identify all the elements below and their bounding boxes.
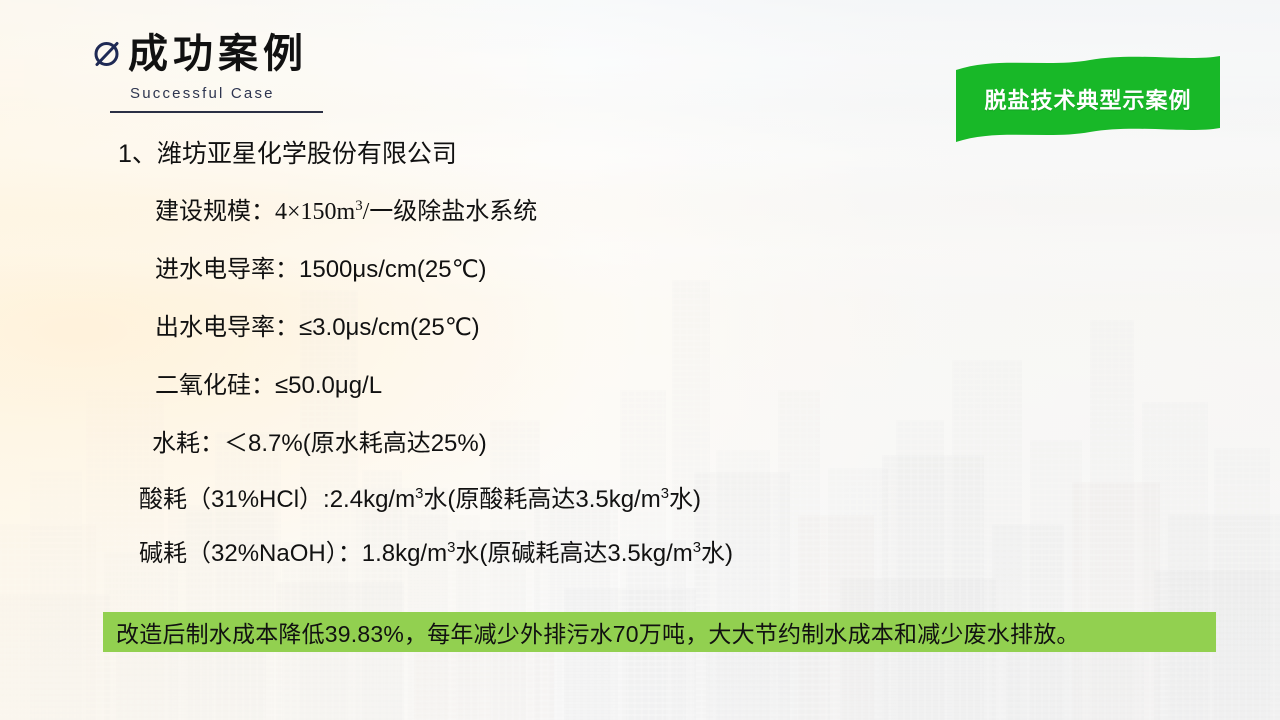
list-item-value: 4×150m3/一级除盐水系统	[275, 199, 537, 225]
highlight-text: 改造后制水成本降低39.83%，每年减少外排污水70万吨，大大节约制水成本和减少…	[103, 615, 1080, 649]
list-item-label: 二氧化硅	[155, 372, 251, 399]
list-item-value: 2.4kg/m3水(原酸耗高达3.5kg/m3水)	[330, 486, 701, 513]
list-item-scale: 建设规模：4×150m3/一级除盐水系统	[155, 200, 1280, 224]
list-item-label: 进水电导率	[155, 256, 275, 283]
list-item-separator: ：	[200, 430, 224, 457]
list-item-value: ≤3.0μs/cm(25℃)	[299, 314, 480, 341]
title-row: 成功案例	[92, 34, 323, 74]
list-item-label: 建设规模	[155, 198, 251, 225]
list-item-label: 酸耗（31%HCl）	[139, 486, 323, 513]
list-item-separator: ：	[275, 256, 299, 283]
page-subtitle: Successful Case	[130, 85, 323, 102]
slide-header: 成功案例 Successful Case	[92, 34, 323, 113]
list-item-separator: ：	[251, 198, 275, 225]
highlight-banner: 改造后制水成本降低39.83%，每年减少外排污水70万吨，大大节约制水成本和减少…	[103, 612, 1216, 652]
list-item-outlet-conductivity: 出水电导率：≤3.0μs/cm(25℃)	[155, 316, 1280, 340]
list-item-silica: 二氧化硅：≤50.0μg/L	[155, 374, 1280, 398]
list-item-separator: ：	[275, 314, 299, 341]
list-item-label: 水耗	[152, 430, 200, 457]
list-item-acid-consumption: 酸耗（31%HCl）:2.4kg/m3水(原酸耗高达3.5kg/m3水)	[139, 488, 1280, 512]
list-item-value: ≤50.0μg/L	[275, 372, 382, 399]
list-item-heading: 1、潍坊亚星化学股份有限公司	[118, 142, 1280, 167]
list-item-separator: ：	[338, 540, 362, 567]
list-item-value: 1500μs/cm(25℃)	[299, 256, 487, 283]
no-symbol-icon	[92, 39, 122, 69]
list-item-value: 1.8kg/m3水(原碱耗高达3.5kg/m3水)	[362, 540, 733, 567]
list-item-label: 碱耗（32%NaOH）	[139, 540, 338, 567]
list-item-separator: :	[323, 486, 330, 513]
ribbon-badge: 脱盐技术典型示案例	[950, 52, 1226, 146]
list-item-label: 出水电导率	[155, 314, 275, 341]
page-title: 成功案例	[128, 34, 308, 74]
list-item-alkali-consumption: 碱耗（32%NaOH）：1.8kg/m3水(原碱耗高达3.5kg/m3水)	[139, 542, 1280, 566]
list-item-water-consumption: 水耗：＜8.7%(原水耗高达25%)	[152, 432, 1280, 456]
content-list: 1、潍坊亚星化学股份有限公司 建设规模：4×150m3/一级除盐水系统 进水电导…	[0, 142, 1280, 566]
list-item-inlet-conductivity: 进水电导率：1500μs/cm(25℃)	[155, 258, 1280, 282]
list-item-separator: ：	[251, 372, 275, 399]
ribbon-label: 脱盐技术典型示案例	[950, 83, 1226, 115]
header-divider	[110, 111, 323, 113]
list-item-value: ＜8.7%(原水耗高达25%)	[224, 430, 487, 457]
slide: 成功案例 Successful Case 脱盐技术典型示案例 1、潍坊亚星化学股…	[0, 0, 1280, 720]
